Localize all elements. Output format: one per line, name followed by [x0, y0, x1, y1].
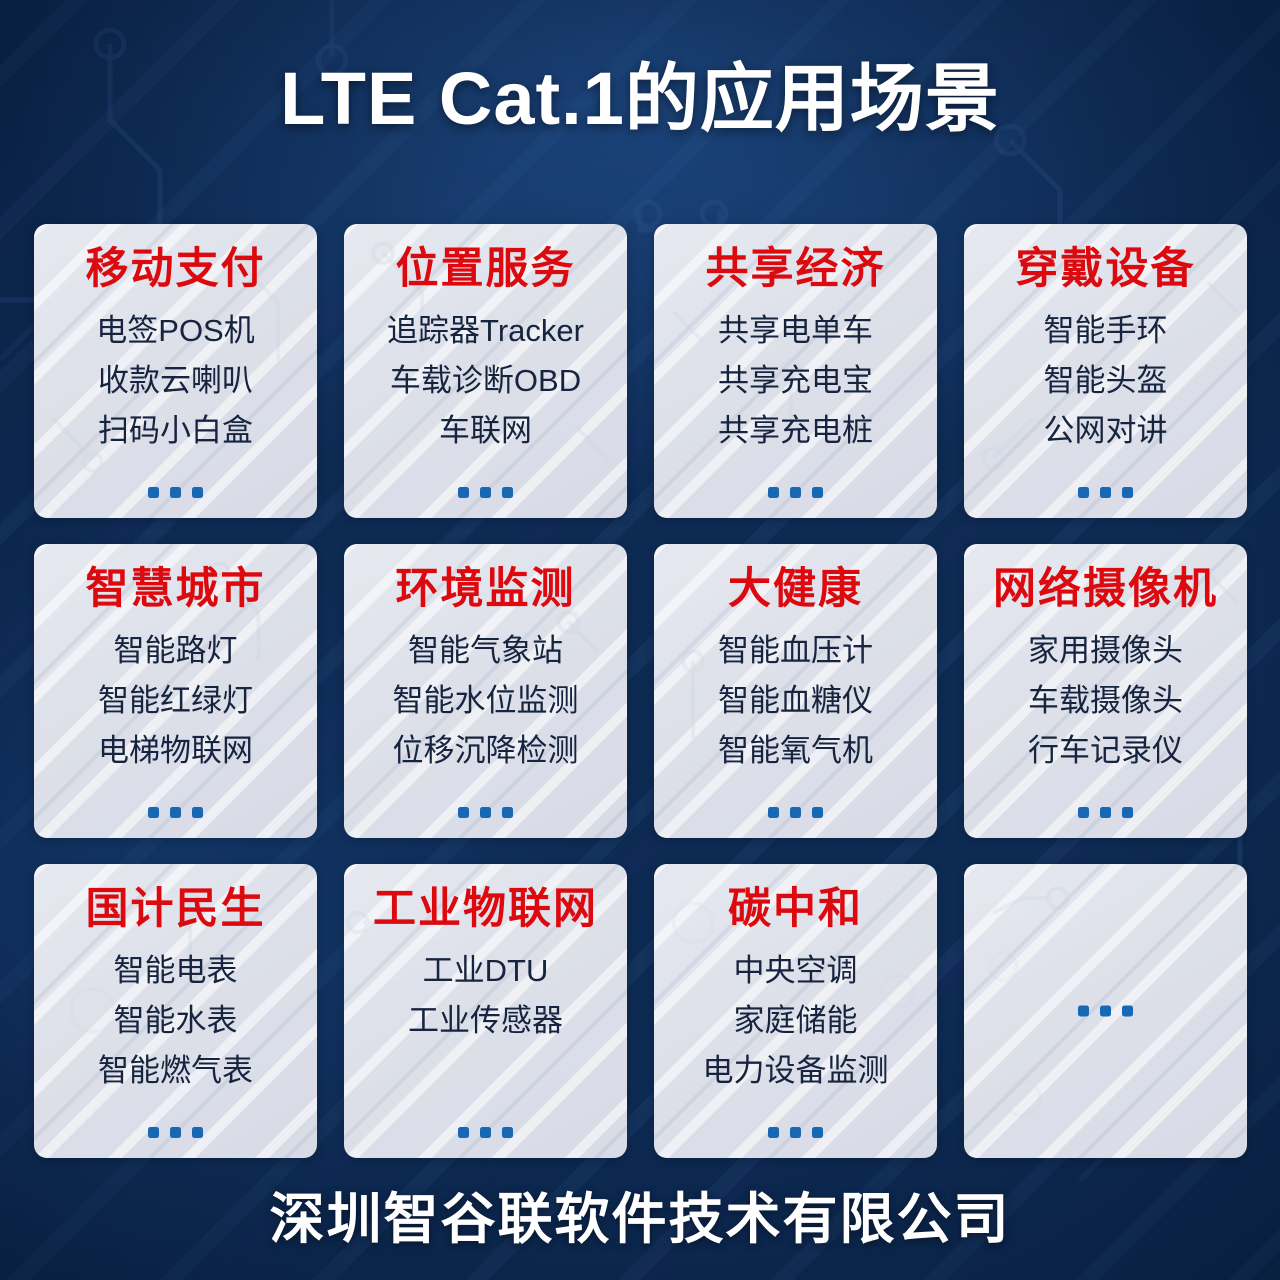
poster-root: LTE Cat.1的应用场景 移动支付 电签POS机 收款云喇叭 扫码小白盒	[0, 0, 1280, 1280]
dot	[812, 1127, 823, 1138]
card-item: 智能路灯	[114, 628, 238, 674]
card-item-list: 智能血压计 智能血糖仪 智能氧气机	[654, 628, 937, 774]
card-item: 智能电表	[114, 948, 238, 994]
card-item: 智能燃气表	[98, 1048, 253, 1094]
dot	[148, 807, 159, 818]
card-item-list: 电签POS机 收款云喇叭 扫码小白盒	[34, 308, 317, 454]
card-item: 家庭储能	[734, 998, 858, 1044]
dot	[768, 807, 779, 818]
card-title: 网络摄像机	[993, 566, 1218, 612]
card-item-list: 家用摄像头 车载摄像头 行车记录仪	[964, 628, 1247, 774]
dot	[1122, 1006, 1133, 1017]
dot	[812, 807, 823, 818]
card-item-list: 工业DTU 工业传感器	[344, 948, 627, 1044]
card-item: 位移沉降检测	[393, 728, 579, 774]
dot	[502, 807, 513, 818]
card-wearable-device[interactable]: 穿戴设备 智能手环 智能头盔 公网对讲	[964, 224, 1247, 518]
dot	[1122, 487, 1133, 498]
dot	[148, 1127, 159, 1138]
dot	[1078, 807, 1089, 818]
card-title: 环境监测	[396, 566, 576, 612]
card-item: 智能血糖仪	[718, 678, 873, 724]
card-item: 家用摄像头	[1028, 628, 1183, 674]
dot	[1100, 807, 1111, 818]
ellipsis-dots	[964, 807, 1247, 818]
dot	[502, 487, 513, 498]
card-item-list: 共享电单车 共享充电宝 共享充电桩	[654, 308, 937, 454]
dot	[170, 487, 181, 498]
dot	[192, 487, 203, 498]
dot	[502, 1127, 513, 1138]
ellipsis-dots	[654, 807, 937, 818]
card-item: 智能头盔	[1044, 358, 1168, 404]
dot	[192, 807, 203, 818]
card-item: 共享充电桩	[718, 408, 873, 454]
card-item-list: 智能电表 智能水表 智能燃气表	[34, 948, 317, 1094]
card-item: 扫码小白盒	[98, 408, 253, 454]
card-mobile-payment[interactable]: 移动支付 电签POS机 收款云喇叭 扫码小白盒	[34, 224, 317, 518]
card-item: 工业传感器	[408, 998, 563, 1044]
card-item: 智能水表	[114, 998, 238, 1044]
card-title: 工业物联网	[373, 886, 598, 932]
card-item: 智能手环	[1044, 308, 1168, 354]
card-item: 电签POS机	[96, 308, 254, 354]
dot	[768, 487, 779, 498]
dot	[458, 487, 469, 498]
dot	[1122, 807, 1133, 818]
card-item-list: 智能气象站 智能水位监测 位移沉降检测	[344, 628, 627, 774]
ellipsis-dots	[964, 1006, 1247, 1017]
ellipsis-dots	[34, 807, 317, 818]
dot	[480, 807, 491, 818]
page-title: LTE Cat.1的应用场景	[0, 62, 1280, 136]
card-item: 车载摄像头	[1028, 678, 1183, 724]
card-item: 电力设备监测	[703, 1048, 889, 1094]
dot	[768, 1127, 779, 1138]
card-item: 智能水位监测	[393, 678, 579, 724]
ellipsis-dots	[654, 1127, 937, 1138]
card-title: 智慧城市	[86, 566, 266, 612]
card-item: 智能氧气机	[718, 728, 873, 774]
card-item-list: 智能手环 智能头盔 公网对讲	[964, 308, 1247, 454]
card-item: 行车记录仪	[1028, 728, 1183, 774]
dot	[1078, 487, 1089, 498]
card-item: 车联网	[439, 408, 532, 454]
card-item: 智能气象站	[408, 628, 563, 674]
dot	[790, 807, 801, 818]
card-item: 共享充电宝	[718, 358, 873, 404]
dot	[192, 1127, 203, 1138]
card-item: 收款云喇叭	[98, 358, 253, 404]
dot	[170, 807, 181, 818]
card-network-camera[interactable]: 网络摄像机 家用摄像头 车载摄像头 行车记录仪	[964, 544, 1247, 838]
card-item: 智能红绿灯	[98, 678, 253, 724]
card-item: 公网对讲	[1044, 408, 1168, 454]
dot	[458, 807, 469, 818]
card-title: 位置服务	[396, 246, 576, 292]
card-carbon-neutrality[interactable]: 碳中和 中央空调 家庭储能 电力设备监测	[654, 864, 937, 1158]
card-title: 碳中和	[728, 886, 863, 932]
card-item: 车载诊断OBD	[390, 358, 581, 404]
card-title: 共享经济	[706, 246, 886, 292]
dot	[790, 1127, 801, 1138]
card-location-service[interactable]: 位置服务 追踪器Tracker 车载诊断OBD 车联网	[344, 224, 627, 518]
dot	[458, 1127, 469, 1138]
card-title: 国计民生	[86, 886, 266, 932]
card-national-livelihood[interactable]: 国计民生 智能电表 智能水表 智能燃气表	[34, 864, 317, 1158]
ellipsis-dots	[344, 487, 627, 498]
ellipsis-dots	[344, 1127, 627, 1138]
company-name-footer: 深圳智谷联软件技术有限公司	[0, 1174, 1280, 1254]
ellipsis-dots	[34, 1127, 317, 1138]
card-item: 中央空调	[734, 948, 858, 994]
card-big-health[interactable]: 大健康 智能血压计 智能血糖仪 智能氧气机	[654, 544, 937, 838]
card-item-list: 追踪器Tracker 车载诊断OBD 车联网	[344, 308, 627, 454]
card-industrial-iot[interactable]: 工业物联网 工业DTU 工业传感器	[344, 864, 627, 1158]
card-item-list: 中央空调 家庭储能 电力设备监测	[654, 948, 937, 1094]
card-environment-monitoring[interactable]: 环境监测 智能气象站 智能水位监测 位移沉降检测	[344, 544, 627, 838]
card-item: 追踪器Tracker	[387, 308, 584, 354]
dot	[148, 487, 159, 498]
card-item: 智能血压计	[718, 628, 873, 674]
card-grid: 移动支付 电签POS机 收款云喇叭 扫码小白盒 位置服务 追踪器Tra	[34, 224, 1247, 1158]
card-item: 共享电单车	[718, 308, 873, 354]
dot	[790, 487, 801, 498]
card-item: 工业DTU	[423, 948, 549, 994]
dot	[1100, 487, 1111, 498]
ellipsis-dots	[654, 487, 937, 498]
card-item: 电梯物联网	[98, 728, 253, 774]
dot	[170, 1127, 181, 1138]
dot	[480, 1127, 491, 1138]
card-title: 穿戴设备	[1016, 246, 1196, 292]
card-smart-city[interactable]: 智慧城市 智能路灯 智能红绿灯 电梯物联网	[34, 544, 317, 838]
dot	[1100, 1006, 1111, 1017]
ellipsis-dots	[964, 487, 1247, 498]
card-title: 移动支付	[86, 246, 266, 292]
card-title: 大健康	[728, 566, 863, 612]
card-more-placeholder[interactable]	[964, 864, 1247, 1158]
ellipsis-dots	[344, 807, 627, 818]
dot	[480, 487, 491, 498]
ellipsis-dots	[34, 487, 317, 498]
dot	[812, 487, 823, 498]
dot	[1078, 1006, 1089, 1017]
card-sharing-economy[interactable]: 共享经济 共享电单车 共享充电宝 共享充电桩	[654, 224, 937, 518]
card-item-list: 智能路灯 智能红绿灯 电梯物联网	[34, 628, 317, 774]
